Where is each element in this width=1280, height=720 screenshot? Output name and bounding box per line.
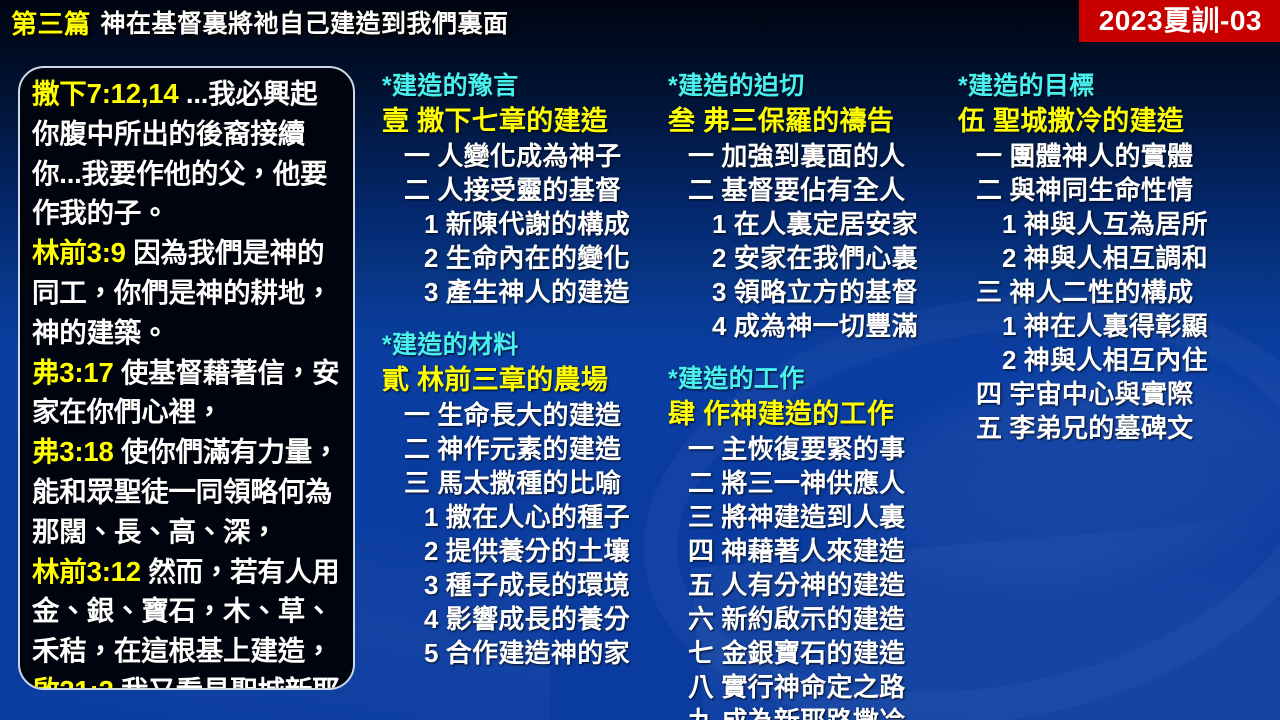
outline-item-number: 3 (424, 275, 439, 309)
outline-item-text: 神與人相互調和 (1024, 243, 1208, 273)
outline-item-level2: 2神與人相互調和 (958, 241, 1258, 275)
outline-item-text: 金銀寶石的建造 (721, 638, 905, 668)
outline-item-level2: 4成為神一切豐滿 (668, 309, 948, 343)
outline-item-text: 合作建造神的家 (446, 638, 630, 668)
outline-item-level1: 二神作元素的建造 (382, 432, 662, 466)
outline-item-level2: 2安家在我們心裏 (668, 241, 948, 275)
outline-item-level1: 五人有分神的建造 (668, 568, 948, 602)
outline-item-level2: 3領略立方的基督 (668, 275, 948, 309)
outline-item-level2: 5合作建造神的家 (382, 636, 662, 670)
outline-group: *建造的豫言壹 撒下七章的建造一人變化成為神子二人接受靈的基督1新陳代謝的構成2… (382, 70, 662, 309)
outline-item-number: 五 (688, 568, 714, 602)
outline-item-number: 一 (688, 432, 714, 466)
outline-item-level1: 二人接受靈的基督 (382, 173, 662, 207)
outline-item-number: 二 (976, 173, 1002, 207)
outline-item-number: 一 (688, 139, 714, 173)
outline-item-level1: 一團體神人的實體 (958, 139, 1258, 173)
outline-item-level1: 九成為新耶路撒冷 (668, 704, 948, 720)
outline-item-text: 神與人相互內住 (1024, 345, 1208, 375)
outline-major-point: 肆 作神建造的工作 (668, 396, 948, 432)
verse-reference: 林前3:9 (32, 237, 126, 268)
conference-badge: 2023夏訓-03 (1079, 0, 1280, 42)
slide-header: 第三篇 神在基督裏將祂自己建造到我們裏面 2023夏訓-03 (0, 0, 1280, 44)
outline-section-heading: *建造的迫切 (668, 70, 948, 103)
outline-item-number: 5 (424, 636, 439, 670)
outline-group: *建造的迫切叁 弗三保羅的禱告一加強到裏面的人二基督要佔有全人1在人裏定居安家2… (668, 70, 948, 343)
verse-paragraph: 撒下7:12,14 ...我必興起你腹中所出的後裔接續你...我要作他的父，他要… (32, 74, 343, 690)
outline-group: *建造的目標伍 聖城撒冷的建造一團體神人的實體二與神同生命性情1神與人互為居所2… (958, 70, 1258, 445)
outline-item-level1: 一人變化成為神子 (382, 139, 662, 173)
outline-item-level1: 二基督要佔有全人 (668, 173, 948, 207)
outline-item-number: 1 (1002, 309, 1017, 343)
outline-item-text: 新約啟示的建造 (721, 604, 905, 634)
message-number: 第三篇 (11, 4, 91, 41)
outline-item-number: 三 (404, 466, 430, 500)
outline-column-3: *建造的目標伍 聖城撒冷的建造一團體神人的實體二與神同生命性情1神與人互為居所2… (958, 70, 1258, 445)
outline-item-text: 宇宙中心與實際 (1009, 379, 1193, 409)
outline-item-text: 神在人裏得彰顯 (1024, 311, 1208, 341)
outline-item-text: 提供養分的土壤 (446, 536, 630, 566)
outline-item-level1: 六新約啟示的建造 (668, 602, 948, 636)
outline-item-number: 八 (688, 670, 714, 704)
outline-item-level1: 三神人二性的構成 (958, 275, 1258, 309)
outline-item-level2: 1神與人互為居所 (958, 207, 1258, 241)
outline-item-number: 4 (712, 309, 727, 343)
outline-item-level1: 五李弟兄的墓碑文 (958, 411, 1258, 445)
outline-item-level1: 八實行神命定之路 (668, 670, 948, 704)
outline-item-text: 人接受靈的基督 (437, 175, 621, 205)
outline-item-number: 四 (688, 534, 714, 568)
outline-item-text: 人有分神的建造 (721, 570, 905, 600)
outline-item-number: 六 (688, 602, 714, 636)
verse-reference: 弗3:18 (32, 436, 114, 467)
outline-item-text: 在人裏定居安家 (734, 209, 918, 239)
header-title-group: 第三篇 神在基督裏將祂自己建造到我們裏面 (11, 2, 509, 42)
outline-item-level2: 2生命內在的變化 (382, 241, 662, 275)
outline-item-number: 2 (712, 241, 727, 275)
verse-reference: 撒下7:12,14 (32, 78, 178, 109)
outline-item-number: 一 (404, 139, 430, 173)
outline-item-text: 種子成長的環境 (446, 570, 630, 600)
outline-item-number: 二 (688, 466, 714, 500)
outline-item-level2: 2提供養分的土壤 (382, 534, 662, 568)
outline-item-number: 2 (1002, 241, 1017, 275)
outline-major-point: 伍 聖城撒冷的建造 (958, 103, 1258, 139)
outline-item-number: 二 (404, 432, 430, 466)
outline-item-level2: 1在人裏定居安家 (668, 207, 948, 241)
verse-reference: 啟21:2 (32, 675, 114, 690)
outline-item-level1: 三馬太撒種的比喻 (382, 466, 662, 500)
outline-item-number: 1 (712, 207, 727, 241)
outline-item-level2: 1神在人裏得彰顯 (958, 309, 1258, 343)
outline-item-number: 二 (404, 173, 430, 207)
outline-item-level1: 二將三一神供應人 (668, 466, 948, 500)
outline-item-level2: 4影響成長的養分 (382, 602, 662, 636)
outline-item-number: 二 (688, 173, 714, 207)
outline-item-level2: 1撒在人心的種子 (382, 500, 662, 534)
outline-item-text: 影響成長的養分 (446, 604, 630, 634)
outline-item-text: 成為新耶路撒冷 (721, 706, 905, 720)
outline-item-number: 2 (424, 534, 439, 568)
outline-column-2: *建造的迫切叁 弗三保羅的禱告一加強到裏面的人二基督要佔有全人1在人裏定居安家2… (668, 70, 948, 720)
outline-item-level1: 一主恢復要緊的事 (668, 432, 948, 466)
outline-item-text: 人變化成為神子 (437, 141, 621, 171)
outline-item-text: 與神同生命性情 (1009, 175, 1193, 205)
outline-item-text: 將神建造到人裏 (721, 502, 905, 532)
outline-item-text: 撒在人心的種子 (446, 502, 630, 532)
outline-item-number: 一 (404, 398, 430, 432)
outline-item-level1: 四宇宙中心與實際 (958, 377, 1258, 411)
outline-item-level2: 3產生神人的建造 (382, 275, 662, 309)
scripture-panel: 撒下7:12,14 ...我必興起你腹中所出的後裔接續你...我要作他的父，他要… (18, 66, 355, 690)
outline-item-text: 神藉著人來建造 (721, 536, 905, 566)
outline-item-number: 3 (424, 568, 439, 602)
verse-reference: 弗3:17 (32, 357, 114, 388)
outline-item-text: 將三一神供應人 (721, 468, 905, 498)
outline-item-level1: 七金銀寶石的建造 (668, 636, 948, 670)
outline-item-text: 新陳代謝的構成 (446, 209, 630, 239)
outline-item-text: 神人二性的構成 (1009, 277, 1193, 307)
outline-major-point: 壹 撒下七章的建造 (382, 103, 662, 139)
outline-group: *建造的工作肆 作神建造的工作一主恢復要緊的事二將三一神供應人三將神建造到人裏四… (668, 363, 948, 720)
outline-item-text: 實行神命定之路 (721, 672, 905, 702)
verse-reference: 林前3:12 (32, 556, 141, 587)
conference-badge-label: 2023夏訓-03 (1099, 7, 1262, 35)
outline-item-number: 四 (976, 377, 1002, 411)
outline-item-number: 3 (712, 275, 727, 309)
outline-item-number: 1 (424, 500, 439, 534)
outline-item-text: 領略立方的基督 (734, 277, 918, 307)
outline-item-text: 成為神一切豐滿 (734, 311, 918, 341)
outline-item-text: 神與人互為居所 (1024, 209, 1208, 239)
outline-item-text: 神作元素的建造 (437, 434, 621, 464)
outline-item-number: 一 (976, 139, 1002, 173)
outline-item-number: 三 (688, 500, 714, 534)
outline-item-text: 馬太撒種的比喻 (437, 468, 621, 498)
outline-item-level2: 3種子成長的環境 (382, 568, 662, 602)
outline-group: *建造的材料貳 林前三章的農場一生命長大的建造二神作元素的建造三馬太撒種的比喻1… (382, 329, 662, 670)
outline-item-level2: 1新陳代謝的構成 (382, 207, 662, 241)
outline-item-text: 生命長大的建造 (437, 400, 621, 430)
outline-item-text: 加強到裏面的人 (721, 141, 905, 171)
outline-item-text: 基督要佔有全人 (721, 175, 905, 205)
outline-item-level1: 一加強到裏面的人 (668, 139, 948, 173)
outline-item-text: 生命內在的變化 (446, 243, 630, 273)
outline-item-number: 2 (424, 241, 439, 275)
outline-item-level1: 二與神同生命性情 (958, 173, 1258, 207)
outline-item-number: 1 (1002, 207, 1017, 241)
outline-item-level1: 四神藉著人來建造 (668, 534, 948, 568)
outline-item-text: 產生神人的建造 (446, 277, 630, 307)
outline-item-number: 七 (688, 636, 714, 670)
outline-item-text: 主恢復要緊的事 (721, 434, 905, 464)
outline-item-level1: 一生命長大的建造 (382, 398, 662, 432)
outline-item-text: 團體神人的實體 (1009, 141, 1193, 171)
outline-section-heading: *建造的材料 (382, 329, 662, 362)
outline-section-heading: *建造的目標 (958, 70, 1258, 103)
outline-section-heading: *建造的工作 (668, 363, 948, 396)
outline-item-number: 4 (424, 602, 439, 636)
outline-item-number: 2 (1002, 343, 1017, 377)
outline-item-text: 安家在我們心裏 (734, 243, 918, 273)
outline-item-level1: 三將神建造到人裏 (668, 500, 948, 534)
slide-canvas: 第三篇 神在基督裏將祂自己建造到我們裏面 2023夏訓-03 撒下7:12,14… (0, 0, 1280, 720)
outline-item-number: 1 (424, 207, 439, 241)
outline-item-text: 李弟兄的墓碑文 (1009, 413, 1193, 443)
outline-item-number: 三 (976, 275, 1002, 309)
outline-major-point: 叁 弗三保羅的禱告 (668, 103, 948, 139)
outline-major-point: 貳 林前三章的農場 (382, 362, 662, 398)
outline-column-1: *建造的豫言壹 撒下七章的建造一人變化成為神子二人接受靈的基督1新陳代謝的構成2… (382, 70, 662, 670)
outline-section-heading: *建造的豫言 (382, 70, 662, 103)
outline-item-number: 五 (976, 411, 1002, 445)
outline-item-number: 九 (688, 704, 714, 720)
page-title: 神在基督裏將祂自己建造到我們裏面 (101, 4, 509, 40)
outline-item-level2: 2神與人相互內住 (958, 343, 1258, 377)
